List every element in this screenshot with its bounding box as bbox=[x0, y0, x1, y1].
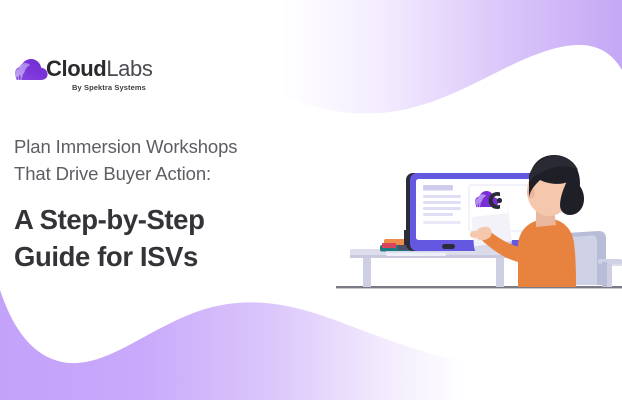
cloudlabs-logo[interactable]: CloudLabs By Spektra Systems bbox=[14, 55, 144, 100]
eyebrow-line-2: That Drive Buyer Action: bbox=[14, 160, 314, 187]
logo-wordmark: CloudLabs bbox=[46, 56, 152, 82]
logo-word-cloud: Cloud bbox=[46, 56, 106, 81]
page-title: A Step-by-Step Guide for ISVs bbox=[14, 201, 314, 275]
illustration-woman-at-desk bbox=[330, 135, 622, 300]
eyebrow-line-1: Plan Immersion Workshops bbox=[14, 133, 314, 160]
logo-word-labs: Labs bbox=[106, 56, 152, 81]
mouse bbox=[442, 244, 455, 249]
purple-wave-top-right-shape bbox=[282, 0, 622, 130]
headline-block: Plan Immersion Workshops That Drive Buye… bbox=[14, 133, 314, 275]
eyebrow-text: Plan Immersion Workshops That Drive Buye… bbox=[14, 133, 314, 187]
promo-banner: CloudLabs By Spektra Systems Plan Immers… bbox=[0, 0, 622, 400]
title-line-1: A Step-by-Step bbox=[14, 201, 314, 238]
floor-line bbox=[336, 286, 622, 288]
logo-tagline: By Spektra Systems bbox=[72, 83, 146, 92]
title-line-2: Guide for ISVs bbox=[14, 238, 314, 275]
